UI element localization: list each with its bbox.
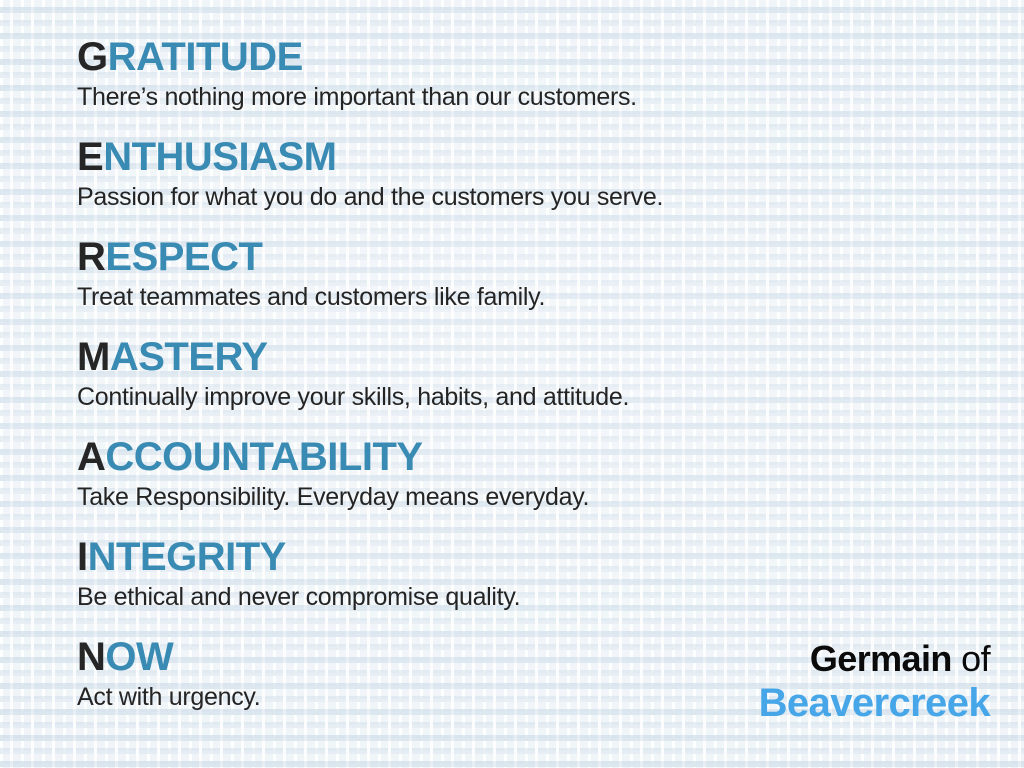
value-lead-letter: M: [77, 335, 110, 379]
value-lead-letter: N: [77, 635, 105, 679]
value-lead-letter: G: [77, 35, 108, 79]
value-block-gratitude: GRATITUDE There’s nothing more important…: [77, 34, 663, 134]
value-rest-letters: NTEGRITY: [88, 535, 286, 579]
value-description-now: Act with urgency.: [77, 682, 663, 713]
value-rest-letters: CCOUNTABILITY: [105, 435, 422, 479]
value-block-accountability: ACCOUNTABILITY Take Responsibility. Ever…: [77, 434, 663, 534]
value-lead-letter: A: [77, 435, 105, 479]
value-description-integrity: Be ethical and never compromise quality.: [77, 582, 663, 613]
logo-brand-name: Germain: [810, 638, 952, 679]
value-description-mastery: Continually improve your skills, habits,…: [77, 382, 663, 413]
value-lead-letter: I: [77, 535, 88, 579]
value-heading-enthusiasm: ENTHUSIASM: [77, 134, 663, 180]
values-slide: GRATITUDE There’s nothing more important…: [0, 0, 1024, 768]
value-description-gratitude: There’s nothing more important than our …: [77, 82, 663, 113]
value-block-integrity: INTEGRITY Be ethical and never compromis…: [77, 534, 663, 634]
value-heading-respect: RESPECT: [77, 234, 663, 280]
value-lead-letter: R: [77, 235, 105, 279]
value-description-accountability: Take Responsibility. Everyday means ever…: [77, 482, 663, 513]
slide-content: GRATITUDE There’s nothing more important…: [0, 0, 1024, 768]
value-heading-accountability: ACCOUNTABILITY: [77, 434, 663, 480]
value-heading-now: NOW: [77, 634, 663, 680]
value-rest-letters: ASTERY: [110, 335, 268, 379]
value-heading-gratitude: GRATITUDE: [77, 34, 663, 80]
value-block-now: NOW Act with urgency.: [77, 634, 663, 734]
logo-connector-word: of: [961, 638, 990, 679]
dealership-logo: Germain of Beavercreek: [759, 638, 990, 726]
value-heading-integrity: INTEGRITY: [77, 534, 663, 580]
logo-line-primary: Germain of: [759, 638, 990, 680]
value-rest-letters: NTHUSIASM: [103, 135, 336, 179]
value-heading-mastery: MASTERY: [77, 334, 663, 380]
logo-location-name: Beavercreek: [759, 680, 990, 726]
value-rest-letters: OW: [105, 635, 173, 679]
value-block-mastery: MASTERY Continually improve your skills,…: [77, 334, 663, 434]
value-block-respect: RESPECT Treat teammates and customers li…: [77, 234, 663, 334]
value-rest-letters: RATITUDE: [108, 35, 303, 79]
value-lead-letter: E: [77, 135, 103, 179]
value-description-enthusiasm: Passion for what you do and the customer…: [77, 182, 663, 213]
value-rest-letters: ESPECT: [105, 235, 262, 279]
core-values-list: GRATITUDE There’s nothing more important…: [77, 34, 663, 734]
value-description-respect: Treat teammates and customers like famil…: [77, 282, 663, 313]
value-block-enthusiasm: ENTHUSIASM Passion for what you do and t…: [77, 134, 663, 234]
